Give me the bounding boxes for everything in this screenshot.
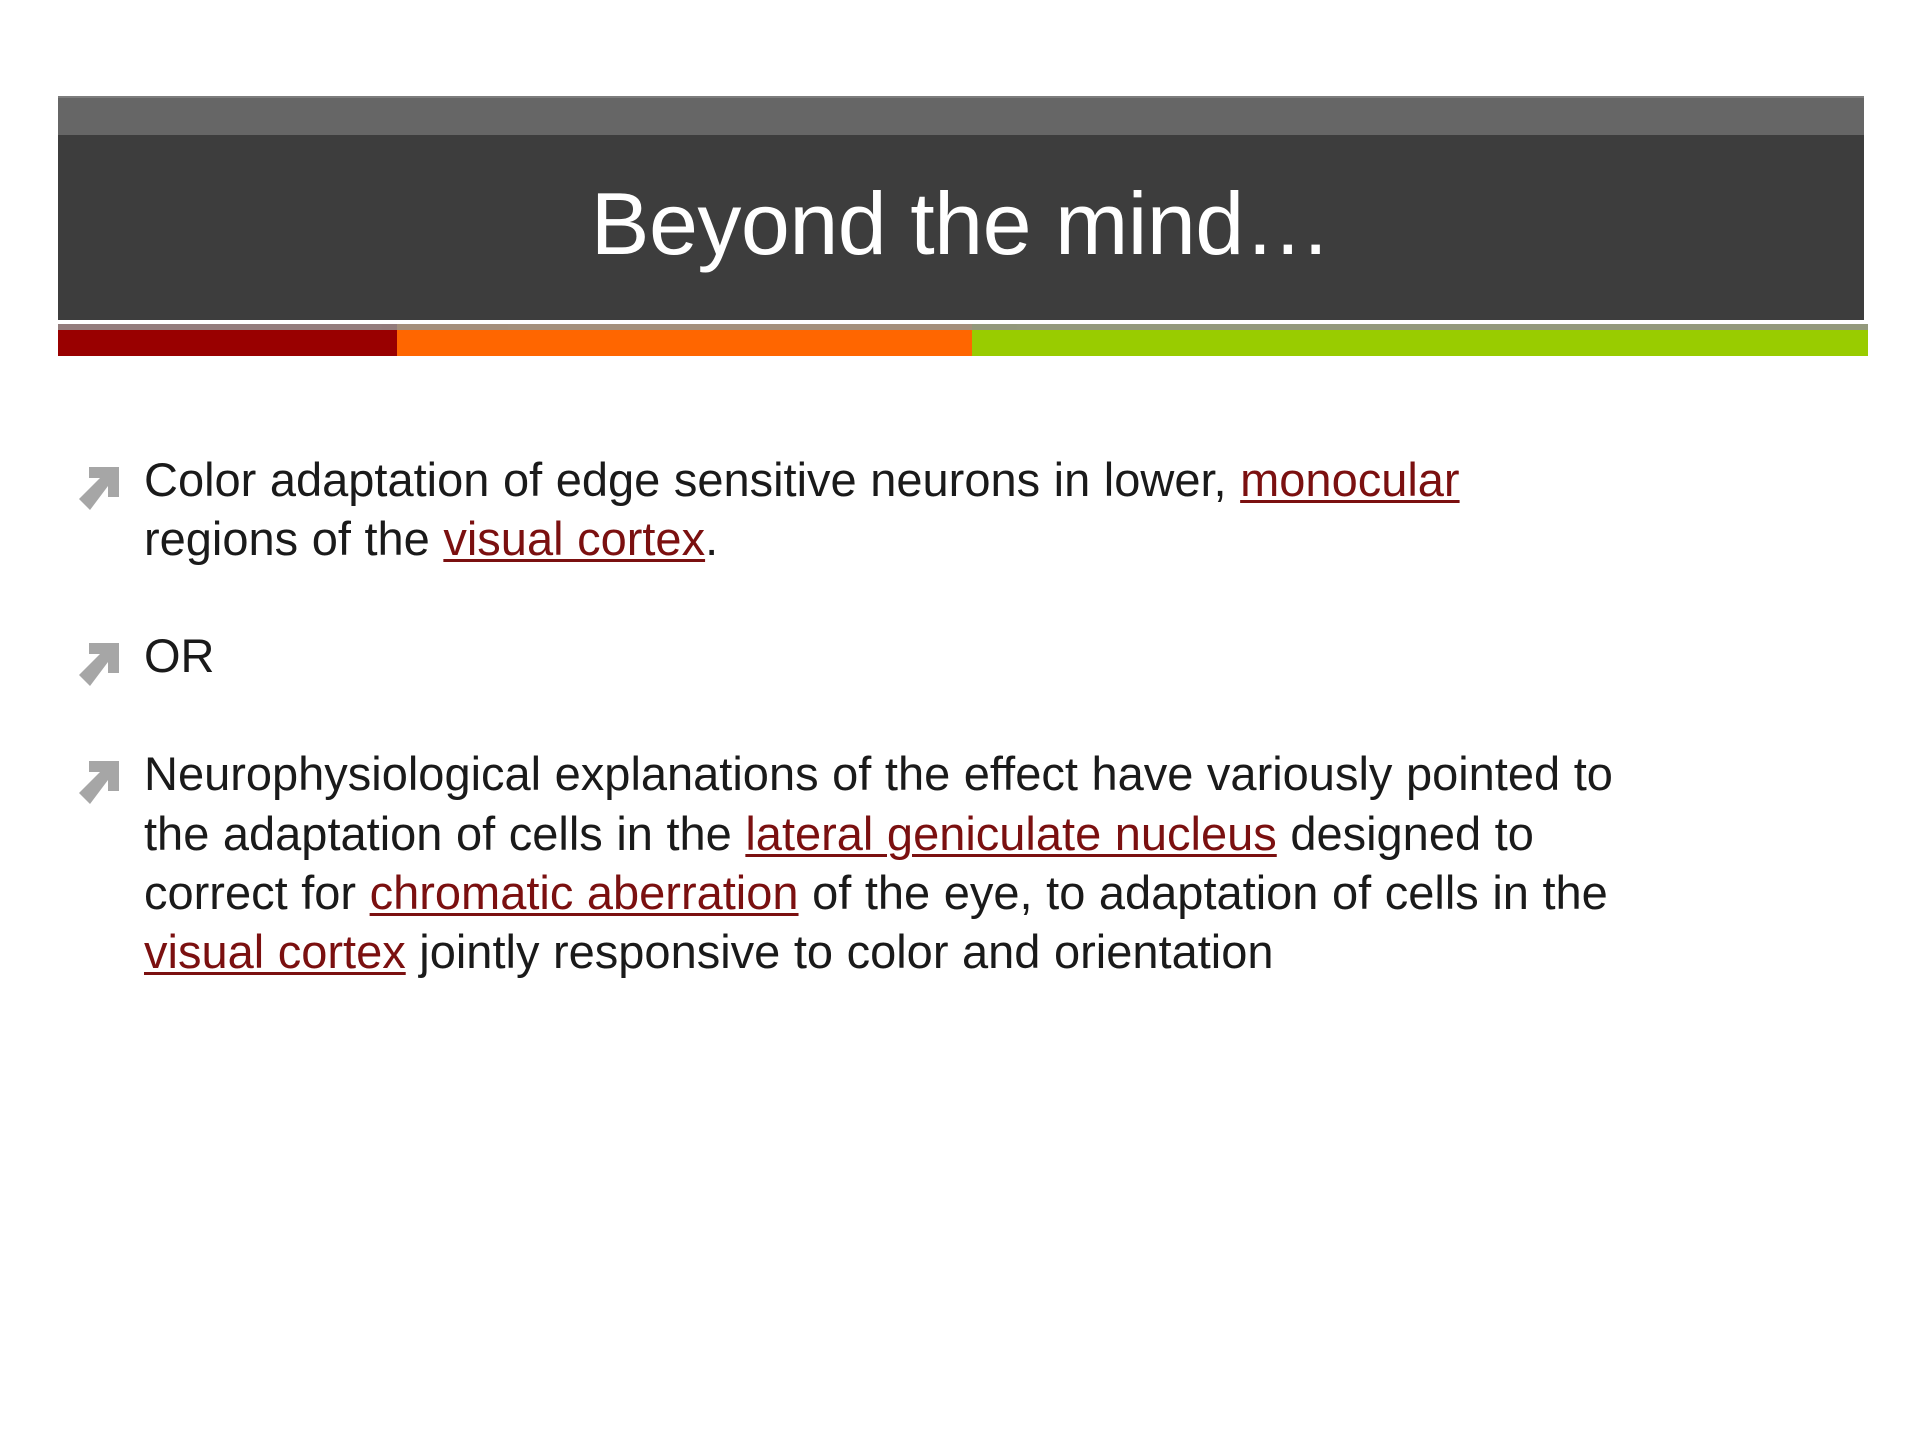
list-item-text: OR [144, 626, 1618, 685]
color-rule-segment-orange [397, 330, 972, 356]
hyperlink[interactable]: monocular [1240, 453, 1459, 506]
hyperlink[interactable]: visual cortex [443, 512, 705, 565]
page-title: Beyond the mind… [591, 180, 1331, 268]
color-rule-segment-green [972, 330, 1868, 356]
arrow-up-right-icon [58, 450, 144, 510]
bullet-list: Color adaptation of edge sensitive neuro… [58, 450, 1618, 981]
slide: Beyond the mind… Color adaptation of edg… [0, 0, 1920, 1443]
list-item: OR [58, 626, 1618, 686]
color-rule [58, 330, 1868, 356]
title-bar: Beyond the mind… [58, 135, 1864, 320]
text-run: regions of the [144, 512, 443, 565]
list-item-text: Neurophysiological explanations of the e… [144, 744, 1618, 981]
list-item: Neurophysiological explanations of the e… [58, 744, 1618, 981]
arrow-up-right-icon [58, 744, 144, 804]
color-rule-segment-red [58, 330, 397, 356]
text-run: of the eye, to adaptation of cells in th… [799, 866, 1608, 919]
list-item-text: Color adaptation of edge sensitive neuro… [144, 450, 1618, 568]
hyperlink[interactable]: visual cortex [144, 925, 406, 978]
arrow-up-right-icon [58, 626, 144, 686]
text-run: jointly responsive to color and orientat… [406, 925, 1274, 978]
title-accent-strip [58, 96, 1864, 135]
text-run: . [705, 512, 718, 565]
title-block: Beyond the mind… [58, 96, 1864, 320]
hyperlink[interactable]: lateral geniculate nucleus [745, 807, 1276, 860]
text-run: Color adaptation of edge sensitive neuro… [144, 453, 1240, 506]
hyperlink[interactable]: chromatic aberration [370, 866, 799, 919]
text-run: OR [144, 629, 215, 682]
list-item: Color adaptation of edge sensitive neuro… [58, 450, 1618, 568]
